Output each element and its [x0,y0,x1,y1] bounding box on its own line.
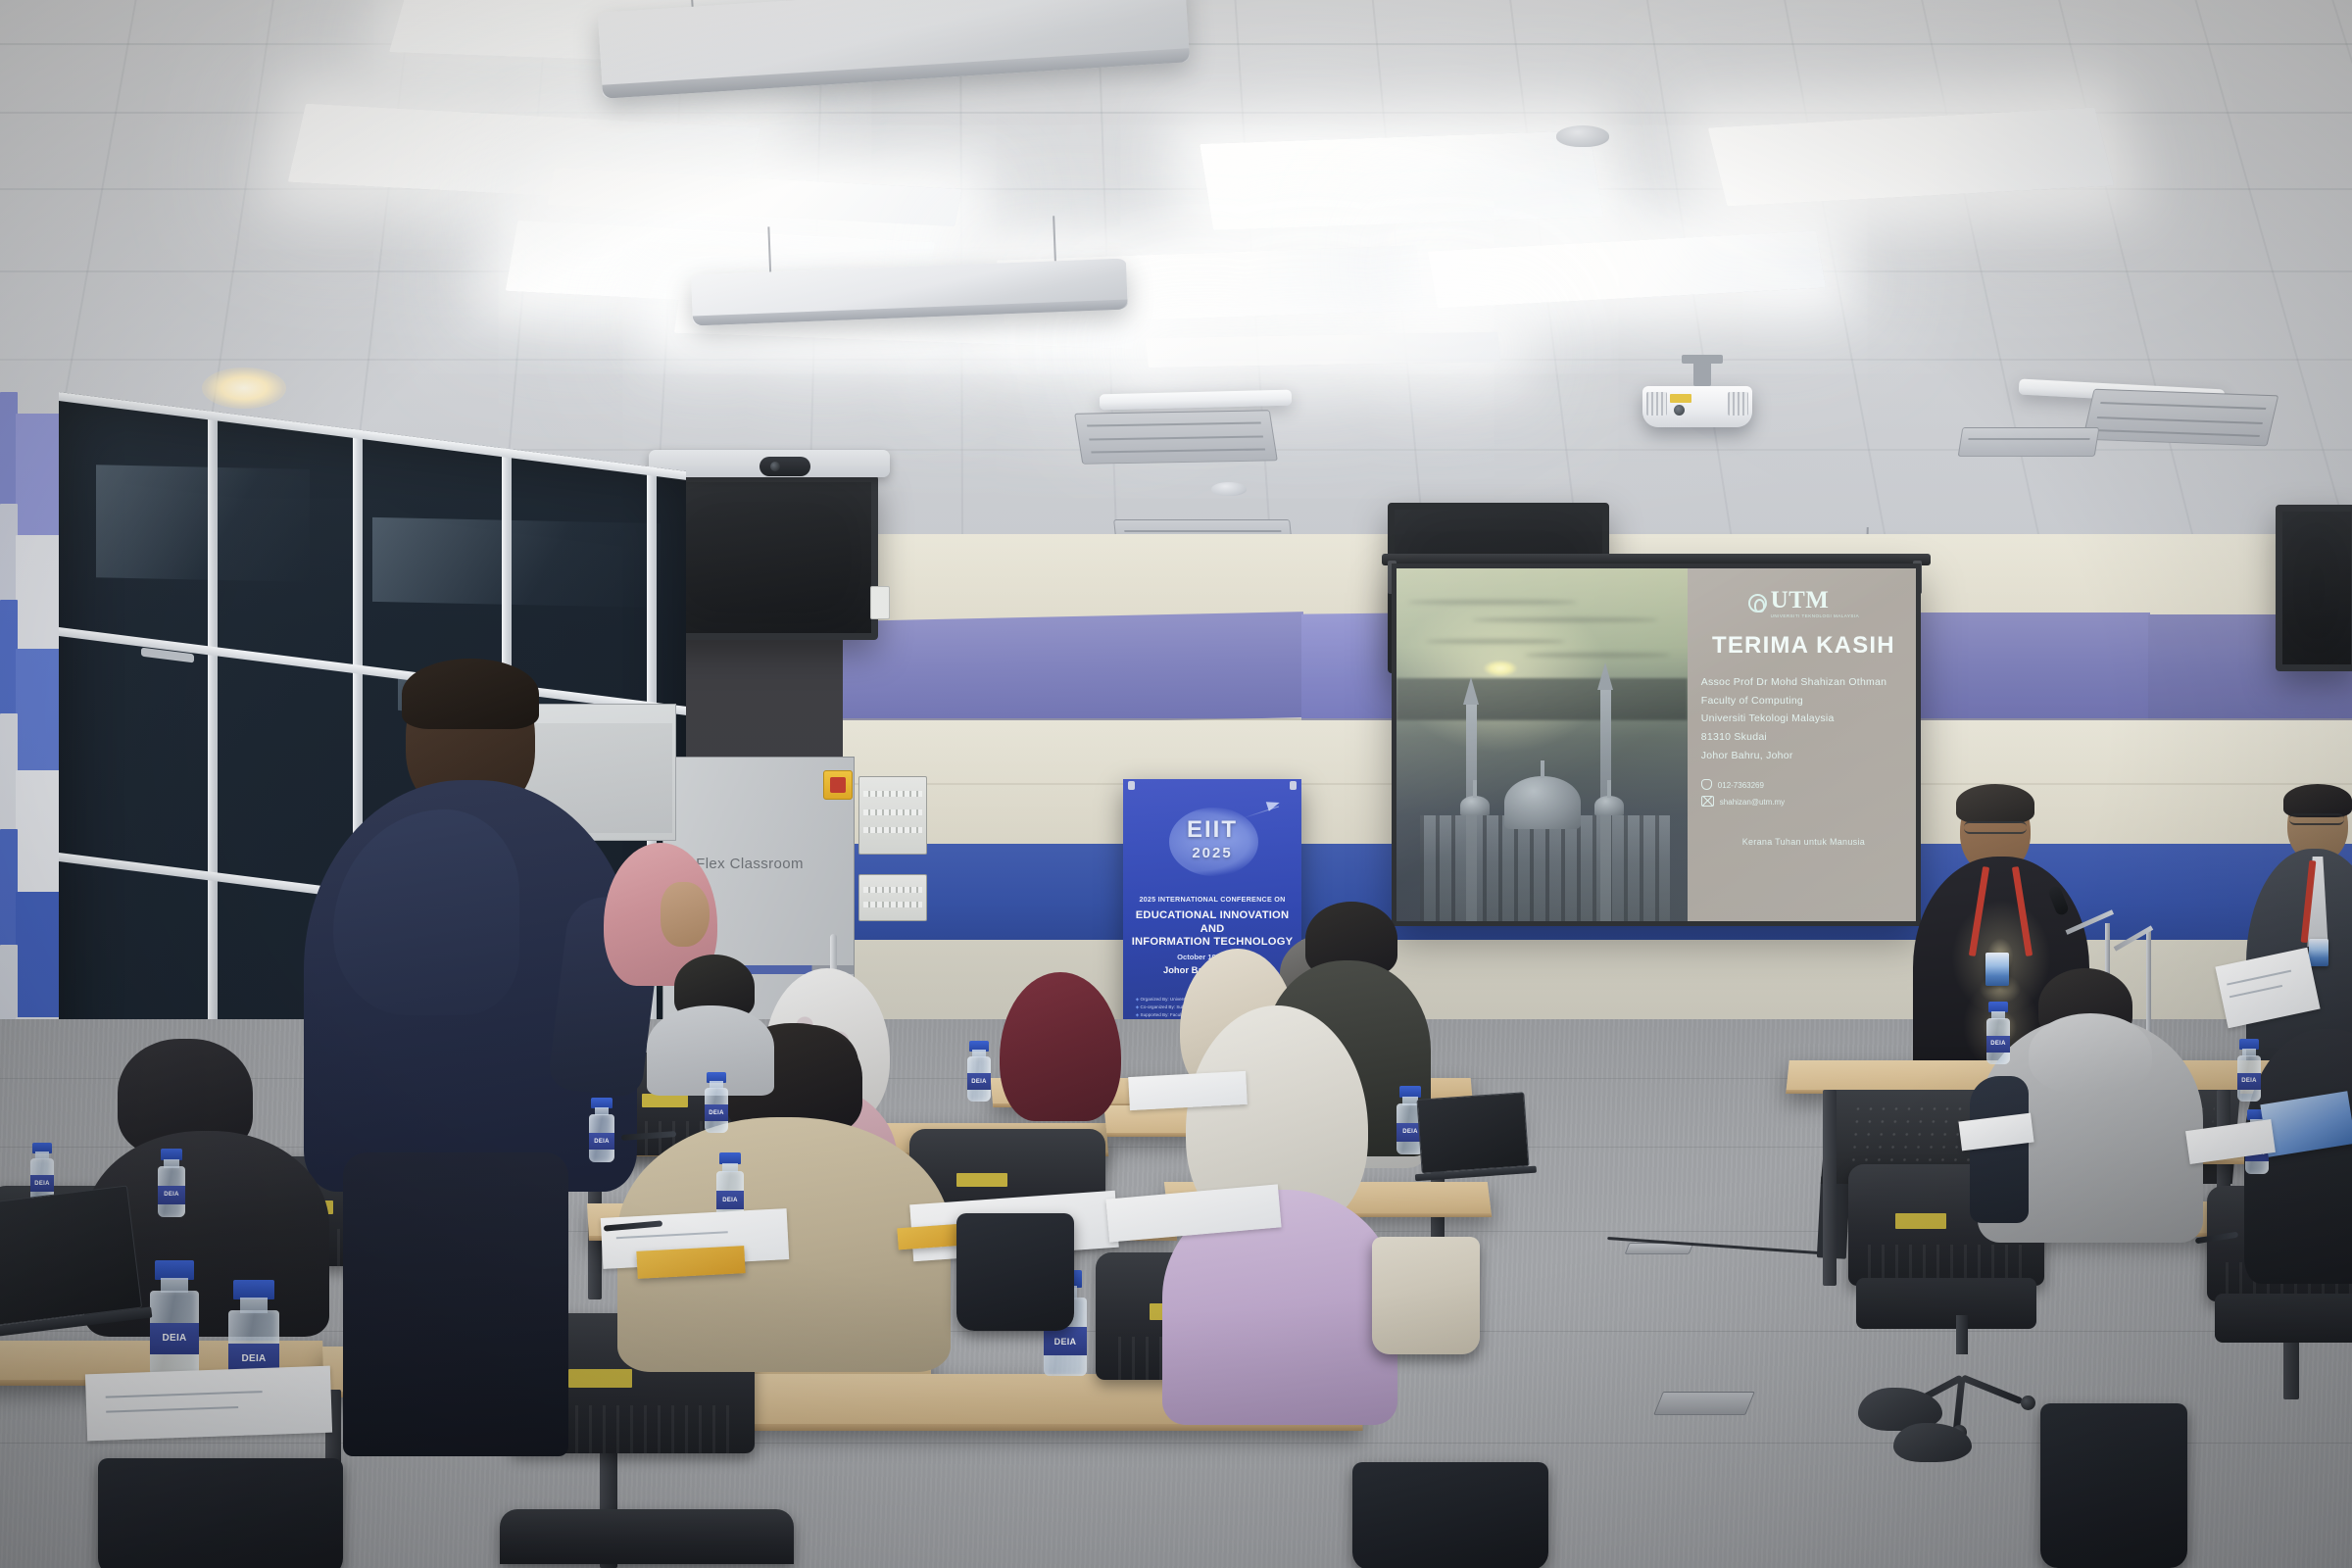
attendee-hood [2029,1013,2152,1094]
chair-foreground[interactable] [500,1509,794,1568]
horizon-hills [1396,678,1688,720]
ceiling-air-vent [2082,389,2279,447]
water-bottle[interactable]: DEIA [966,1041,992,1102]
backpack[interactable] [956,1213,1074,1331]
attendee-face [661,882,710,947]
presenter-glasses [1964,821,2027,834]
banner-acronym: EIIT 2025 [1123,816,1301,861]
slide-phone: 012-7363269 [1718,781,1764,790]
bottle-label: DEIA [1986,1036,2011,1053]
handbag[interactable] [1372,1237,1480,1354]
water-bottle[interactable]: DEIA [2236,1039,2262,1102]
backpack-foreground[interactable] [1352,1462,1548,1568]
slide-email-row: shahizan@utm.my [1701,795,1906,811]
floor-power-outlet [1653,1392,1755,1415]
mail-icon [1701,796,1714,807]
display-far-right [2276,505,2352,671]
ceiling-air-vent [1074,410,1278,464]
paper-plane-icon [1266,799,1281,812]
acoustic-panel [16,414,65,537]
standing-attendee-hair [402,659,539,729]
attendee-sleeve [1970,1076,2029,1223]
water-bottle[interactable]: DEIA [588,1098,615,1162]
acoustic-panel [16,892,65,1019]
slide-email: shahizan@utm.my [1720,798,1785,807]
wall-switch-plate[interactable] [870,586,890,619]
water-bottle[interactable]: DEIA [704,1072,729,1133]
moderator-hair [2283,784,2352,817]
presenter-hair [1956,784,2034,823]
slide-text-column: UTM UNIVERSITI TEKNOLOGI MALAYSIA TERIMA… [1688,568,1916,921]
laptop[interactable] [0,1185,142,1325]
window-mullion [208,411,218,1117]
water-bottle[interactable]: DEIA [157,1149,186,1217]
slide-contact-block: 012-7363269 shahizan@utm.my [1701,778,1906,811]
mosque-structure [1420,815,1670,921]
chair-asset-tag [1895,1213,1946,1229]
attendee-standing-navy-hoodie [323,662,647,1378]
acoustic-panel [16,535,65,651]
mosque-dome [1504,776,1581,829]
ceiling-air-vent [1958,427,2100,457]
ceiling-speaker-dome [1556,125,1609,147]
desk-papers[interactable] [85,1366,332,1442]
utm-wordmark: UTM [1771,588,1860,612]
desk-leg [1823,1090,1837,1286]
utm-logo: UTM UNIVERSITI TEKNOLOGI MALAYSIA [1701,588,1906,618]
water-bottle[interactable]: DEIA [149,1260,200,1376]
presentation-slide: UTM UNIVERSITI TEKNOLOGI MALAYSIA TERIMA… [1396,568,1916,921]
slide-line: Faculty of Computing [1701,692,1906,710]
phone-icon [1701,779,1712,790]
slide-line: Johor Bahru, Johor [1701,747,1906,765]
electrical-panel [858,874,927,921]
water-bottle[interactable]: DEIA [1985,1002,2011,1064]
slide-motto: Kerana Tuhan untuk Manusia [1701,837,1906,847]
fire-alarm-box[interactable] [823,770,853,800]
projection-screen: UTM UNIVERSITI TEKNOLOGI MALAYSIA TERIMA… [1392,563,1921,926]
standing-attendee-legs [343,1152,568,1456]
sun-glow [1484,661,1517,676]
bottle-brand: DEIA [1990,1041,2006,1047]
mosque-small-dome [1460,796,1490,815]
ceiling-projector [1642,386,1752,427]
slide-affiliation-lines: Assoc Prof Dr Mohd Shahizan Othman Facul… [1701,673,1906,764]
backpack[interactable] [2040,1403,2187,1568]
acoustic-panel [16,770,65,894]
classroom-scene: UTM UNIVERSITI TEKNOLOGI MALAYSIA TERIMA… [0,0,2352,1568]
slide-photo [1396,568,1688,921]
conference-booklet[interactable] [636,1246,745,1279]
laptop[interactable] [1416,1092,1529,1173]
moderator-glasses [2289,813,2344,825]
slide-phone-row: 012-7363269 [1701,778,1906,795]
acoustic-panel [16,649,65,772]
display-left [655,475,878,640]
utm-logo-subtitle: UNIVERSITI TEKNOLOGI MALAYSIA [1771,613,1860,618]
attendee-maroon-hijab [996,972,1133,1149]
ceiling-panel-light [1146,332,1500,367]
wall-purple-band [843,612,1303,727]
backpack-foreground[interactable] [98,1458,343,1568]
camera-lens [759,457,810,476]
slide-line: Universiti Tekologi Malaysia [1701,710,1906,728]
electrical-panel [858,776,927,855]
maroon-hijab [1000,972,1121,1121]
slide-line: 81310 Skudai [1701,728,1906,747]
mosque-small-dome [1594,796,1624,815]
desk-papers[interactable] [1128,1071,1248,1110]
moderator-badge [2309,939,2328,966]
attendee-grey-hoodie [1978,968,2203,1243]
ceiling-panel-light [1200,130,1603,230]
attendee-back-left-corner [647,955,774,1092]
slide-title: TERIMA KASIH [1701,632,1906,660]
banner-acronym-text: EIIT [1187,816,1238,843]
slide-line: Assoc Prof Dr Mohd Shahizan Othman [1701,673,1906,692]
banner-year: 2025 [1123,845,1301,861]
utm-emblem-icon [1748,594,1767,612]
ceiling-speaker-dome [1211,482,1247,496]
